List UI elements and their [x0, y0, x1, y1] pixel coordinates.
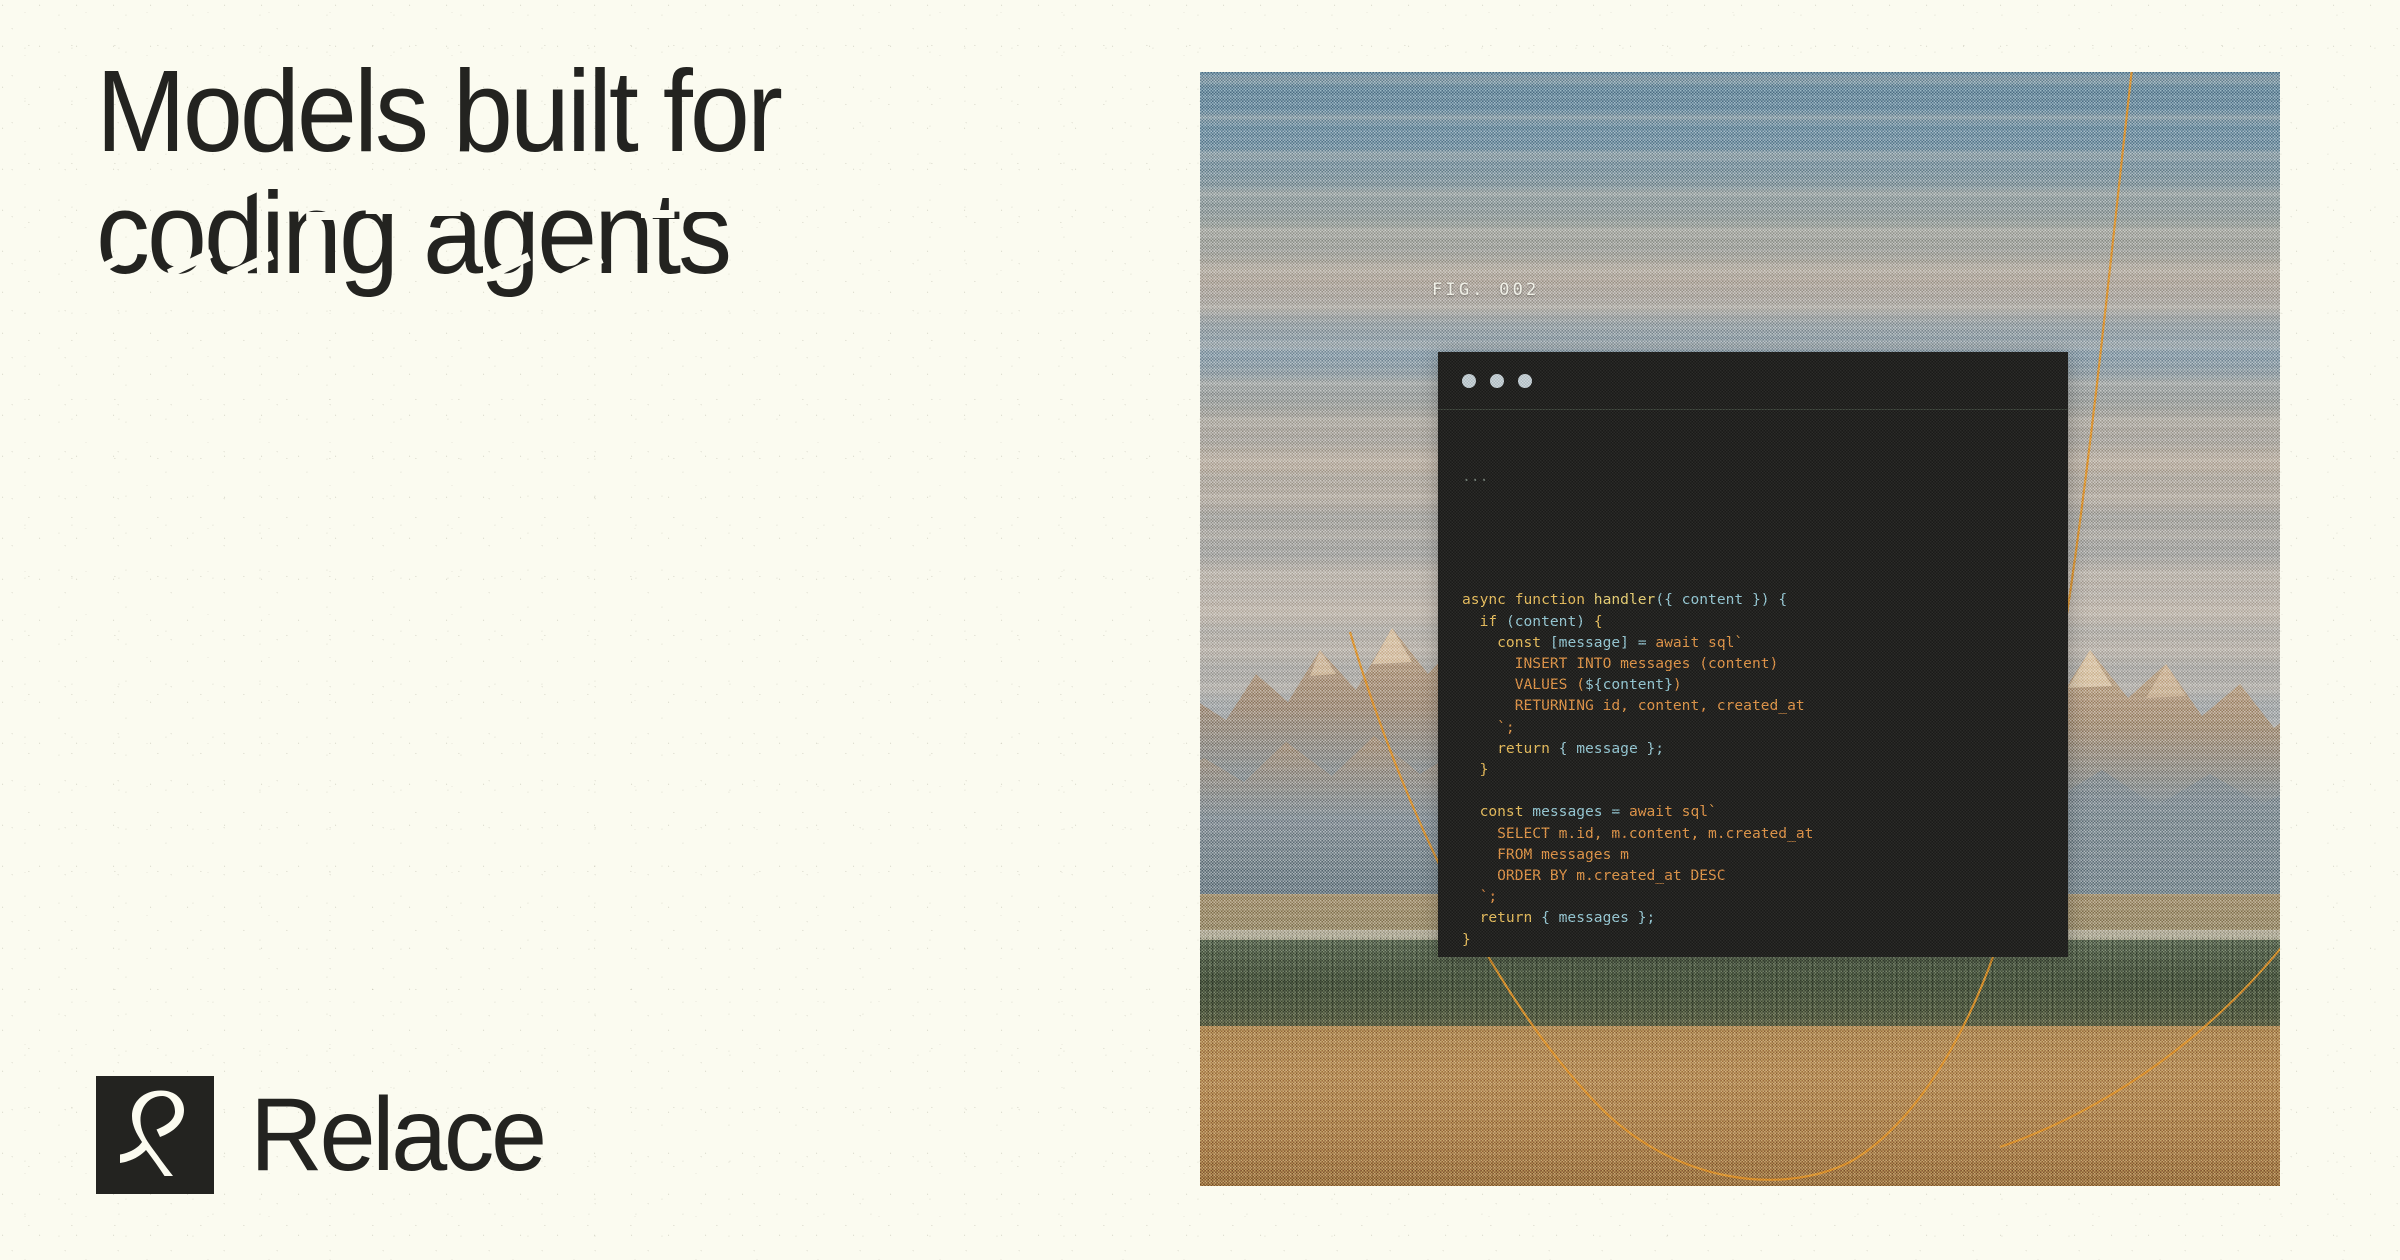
code-window-titlebar: [1438, 352, 2068, 410]
code-line: FROM messages m: [1462, 844, 2068, 865]
code-token: return: [1462, 909, 1541, 926]
code-token: if: [1462, 613, 1506, 630]
code-token: ): [1673, 676, 1682, 693]
code-line: `;: [1462, 717, 2068, 738]
code-line: ORDER BY m.created_at DESC: [1462, 865, 2068, 886]
code-line: }: [1462, 759, 2068, 780]
code-token: const: [1462, 634, 1550, 651]
code-token: const: [1462, 803, 1532, 820]
code-line: const messages = await sql`: [1462, 801, 2068, 822]
code-line: }: [1462, 929, 2068, 950]
code-token: ({ content }) {: [1655, 591, 1787, 608]
code-token: await: [1655, 634, 1708, 651]
code-token: VALUES (: [1462, 676, 1585, 693]
code-line: const [message] = await sql`: [1462, 632, 2068, 653]
code-token: await: [1629, 803, 1682, 820]
window-dot-3-icon[interactable]: [1518, 374, 1532, 388]
code-token: { message };: [1559, 740, 1664, 757]
window-dot-2-icon[interactable]: [1490, 374, 1504, 388]
code-line: async function handler({ content }) {: [1462, 589, 2068, 610]
code-token: {: [1594, 613, 1603, 630]
code-token: `;: [1462, 888, 1497, 905]
relace-ribbon-logo-icon: [96, 1076, 214, 1194]
code-token: }: [1462, 931, 1471, 948]
code-top-ellipsis: ...: [1462, 466, 2068, 487]
code-token: return: [1462, 740, 1559, 757]
code-token: INSERT INTO messages (content): [1462, 655, 1778, 672]
headline-line-2: coding agents: [96, 168, 729, 298]
code-token: ORDER BY m.created_at DESC: [1462, 867, 1726, 884]
code-token: SELECT m.id, m.content, m.created_at: [1462, 825, 1813, 842]
code-line: SELECT m.id, m.content, m.created_at: [1462, 823, 2068, 844]
code-token: RETURNING id, content, created_at: [1462, 697, 1805, 714]
code-line: [1462, 780, 2068, 801]
page-headline: Models built for coding agents: [96, 52, 1096, 293]
code-token: function: [1515, 591, 1594, 608]
code-token: ${content}: [1585, 676, 1673, 693]
code-token: sql`: [1682, 803, 1717, 820]
window-dot-1-icon[interactable]: [1462, 374, 1476, 388]
code-lines-container: async function handler({ content }) { if…: [1462, 589, 2068, 949]
code-line: VALUES (${content}): [1462, 674, 2068, 695]
code-token: FROM messages m: [1462, 846, 1629, 863]
headline-line-2-wrapper: coding agents: [96, 174, 729, 292]
brand-wordmark: Relace: [250, 1083, 544, 1187]
code-token: `;: [1462, 719, 1515, 736]
left-content-column: Models built for coding agents Relace: [96, 0, 1136, 1260]
code-token: }: [1462, 761, 1488, 778]
figure-photo-panel: FIG. 002 ... async function handler({ co…: [1200, 72, 2280, 1186]
code-token: async: [1462, 591, 1515, 608]
code-token: { messages };: [1541, 909, 1655, 926]
code-token: messages =: [1532, 803, 1629, 820]
code-line: INSERT INTO messages (content): [1462, 653, 2068, 674]
headline-line-1: Models built for: [96, 52, 1026, 170]
code-token: handler: [1594, 591, 1656, 608]
code-line: `;: [1462, 886, 2068, 907]
figure-label: FIG. 002: [1432, 280, 1539, 300]
window-traffic-lights: [1462, 374, 1532, 388]
code-line: RETURNING id, content, created_at: [1462, 695, 2068, 716]
photo-grass-texture: [1200, 926, 2280, 1186]
code-window[interactable]: ... async function handler({ content }) …: [1438, 352, 2068, 957]
code-token: sql`: [1708, 634, 1743, 651]
code-token: (content): [1506, 613, 1594, 630]
code-line: return { message };: [1462, 738, 2068, 759]
code-token: [message] =: [1550, 634, 1655, 651]
brand-logo-lockup[interactable]: Relace: [96, 1076, 553, 1194]
code-editor-body[interactable]: ... async function handler({ content }) …: [1438, 410, 2068, 957]
code-line: return { messages };: [1462, 907, 2068, 928]
code-line: if (content) {: [1462, 611, 2068, 632]
